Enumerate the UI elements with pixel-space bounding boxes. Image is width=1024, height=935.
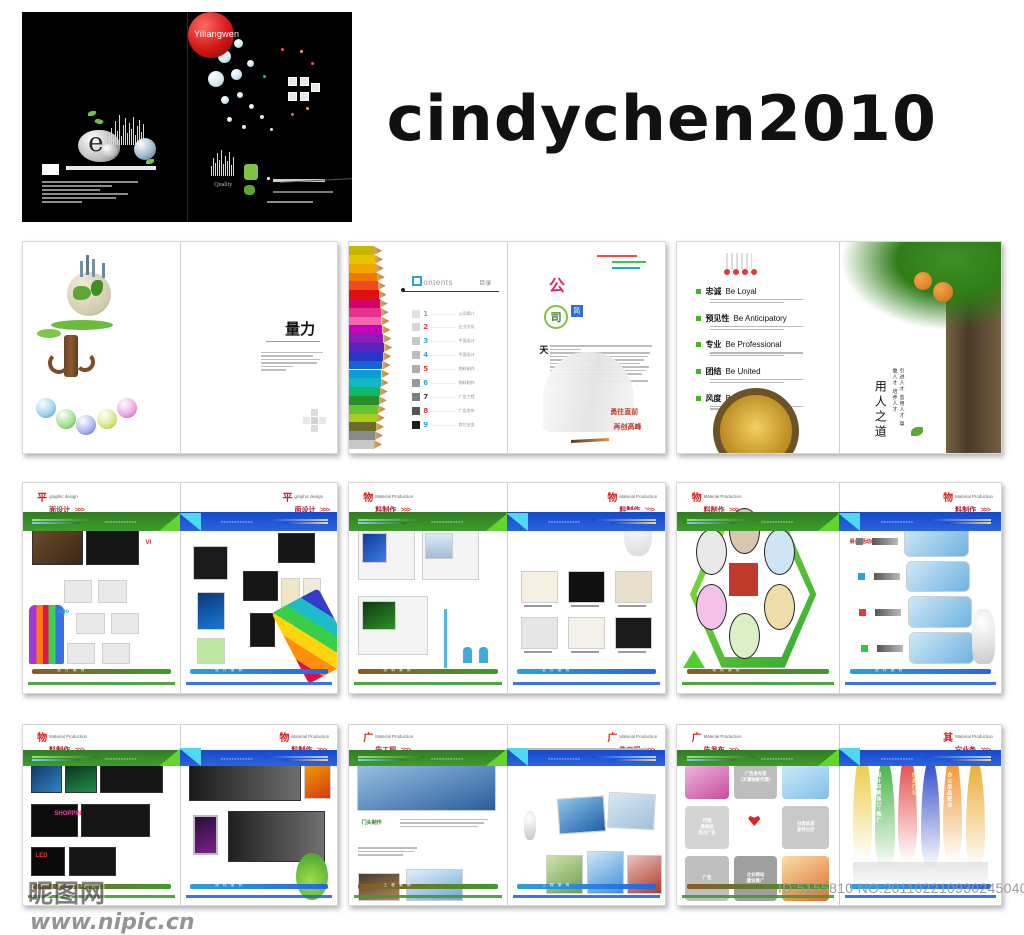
badge-2 bbox=[56, 409, 76, 429]
contents-c-mark bbox=[412, 276, 422, 286]
section-header-cn: 平 bbox=[282, 494, 292, 503]
section-banner: >>>>>>>>>>>> <<<<<<<<<<<< bbox=[349, 512, 665, 531]
design-thumb[interactable] bbox=[102, 643, 130, 664]
contents-item-chip bbox=[412, 310, 420, 318]
contents-item[interactable]: 7.............广告工程 bbox=[412, 393, 474, 401]
pencil bbox=[349, 440, 374, 449]
pencil bbox=[349, 387, 380, 396]
contents-right-page: 公 司 简介 天 勇往直前 再创高峰 bbox=[507, 242, 665, 453]
vertical-title: 用人之道 bbox=[872, 380, 889, 440]
pencil-tip bbox=[378, 405, 386, 414]
design-thumb[interactable] bbox=[243, 571, 277, 600]
contents-item-chip bbox=[412, 393, 420, 401]
contents-item-number: 6 bbox=[423, 379, 428, 387]
feather-label: 办公用品配送 bbox=[946, 772, 953, 808]
pencil-tip bbox=[382, 361, 390, 370]
banner-half-blue: <<<<<<<<<<<< bbox=[839, 512, 1001, 531]
contents-item-dots: ............. bbox=[431, 311, 456, 317]
section-header-cn: 物 bbox=[279, 734, 289, 743]
banner-ticks-right: <<<<<<<<<<<< bbox=[221, 757, 253, 761]
image-tile[interactable] bbox=[425, 533, 453, 558]
contents-item-chip bbox=[412, 379, 420, 387]
section-header-en: Material Production bbox=[619, 494, 657, 499]
cover-back-page bbox=[22, 12, 187, 222]
business-card-thumb[interactable] bbox=[568, 571, 606, 603]
banner-ticks: >>>>>>>>>>>> bbox=[761, 520, 793, 524]
section-baseline bbox=[513, 682, 661, 685]
section-header-en: Material Production bbox=[49, 734, 87, 739]
pencil bbox=[349, 431, 375, 440]
pencil-tip bbox=[374, 246, 382, 255]
contents-item-number: 2 bbox=[423, 323, 428, 331]
banner-triangle-green bbox=[486, 513, 508, 531]
led-thumb[interactable] bbox=[31, 847, 66, 876]
value-bullet-icon bbox=[696, 289, 701, 294]
spec-panel[interactable] bbox=[81, 804, 150, 836]
contents-item[interactable]: 2.............企业文化 bbox=[412, 323, 474, 331]
design-thumb[interactable] bbox=[64, 580, 92, 603]
section-baseline bbox=[354, 895, 503, 898]
contents-item[interactable]: 9.............其它业务 bbox=[412, 421, 474, 429]
pencil-tip bbox=[376, 264, 384, 273]
value-label-cn: 忠诚 bbox=[705, 286, 721, 297]
pencil bbox=[349, 334, 383, 343]
section-footbar-label: 物 料 案 例 bbox=[57, 883, 86, 888]
row-marker bbox=[861, 645, 868, 652]
spread-ad-release-other[interactable]: 广 Material Production 告发布 >>> 广告发布室 （天津独… bbox=[676, 724, 1002, 906]
banner-half-blue: <<<<<<<<<<<< bbox=[180, 512, 337, 531]
business-card-thumb[interactable] bbox=[615, 617, 653, 649]
contents-item-dots: ............. bbox=[431, 380, 456, 386]
service-tile[interactable] bbox=[734, 806, 778, 849]
contents-item-chip bbox=[412, 365, 420, 373]
section-baseline bbox=[513, 895, 661, 898]
sprout-mascot-icon bbox=[296, 853, 327, 900]
pencil bbox=[349, 378, 381, 387]
design-thumb[interactable] bbox=[98, 580, 126, 603]
section-baseline bbox=[28, 682, 176, 685]
banner-half-green: >>>>>>>>>>>> bbox=[677, 750, 839, 766]
section-footbar-label: 工 程 案 例 bbox=[384, 883, 413, 888]
spread-material-production-3[interactable]: 物 Material Production 料制作 >>> SHOPPINGLE… bbox=[22, 724, 338, 906]
row-marker bbox=[858, 573, 865, 580]
section-footbar-label: 名 片 案 例 bbox=[542, 668, 571, 673]
value-bullet-icon bbox=[696, 342, 701, 347]
pencil-tip bbox=[377, 273, 385, 282]
card-caption bbox=[524, 651, 552, 653]
row-label-plate bbox=[874, 573, 900, 580]
feather-graphic bbox=[853, 750, 872, 862]
quality-equalizer bbox=[211, 150, 234, 176]
section-header-cn: 广 bbox=[363, 734, 373, 743]
pencil-tip bbox=[377, 414, 385, 423]
value-label-cn: 专业 bbox=[705, 339, 721, 350]
business-card-thumb[interactable] bbox=[521, 571, 559, 603]
contents-item-label: 物料制作 bbox=[459, 366, 475, 372]
vertical-lines: 引进人才 善用人才 尊重人才 培养人才 bbox=[892, 368, 906, 428]
pencil bbox=[349, 352, 383, 361]
contents-item-number: 9 bbox=[423, 421, 428, 429]
badge-1 bbox=[36, 398, 56, 418]
pencil bbox=[349, 255, 375, 264]
section-header-en: Material Production bbox=[704, 734, 742, 739]
service-tile[interactable]: 代理 各报纸 电台广告 bbox=[685, 806, 729, 849]
banner-ticks-right: <<<<<<<<<<<< bbox=[881, 520, 913, 524]
pencil-tip bbox=[375, 431, 383, 440]
value-bullet-icon bbox=[696, 396, 701, 401]
service-tile[interactable]: 分类信息 宣传台历 bbox=[782, 806, 829, 849]
section-banner: >>>>>>>>>>>> <<<<<<<<<<<< bbox=[23, 750, 337, 766]
section-baseline bbox=[28, 895, 176, 898]
outdoor-photo[interactable] bbox=[608, 792, 657, 830]
preview-canvas: Yiliangwen bbox=[0, 0, 1024, 910]
contents-item-label: 广告工程 bbox=[459, 394, 475, 400]
pencil-tip bbox=[380, 299, 388, 308]
brand-body-lines bbox=[261, 352, 323, 373]
storefront-caption: 门头制作 bbox=[362, 819, 382, 826]
intro-seal-char: 司 bbox=[544, 305, 568, 329]
center-emblem bbox=[729, 563, 758, 597]
design-thumb[interactable] bbox=[32, 529, 82, 565]
pencil bbox=[349, 317, 381, 326]
persimmon-1 bbox=[914, 272, 932, 290]
quality-label: Quality bbox=[214, 182, 232, 188]
banner-ticks-right: <<<<<<<<<<<< bbox=[221, 520, 253, 524]
banner-half-green: >>>>>>>>>>>> bbox=[349, 512, 507, 531]
section-header-en: graphic design bbox=[294, 494, 329, 499]
design-thumb[interactable] bbox=[111, 613, 139, 634]
ornament-pattern bbox=[726, 253, 752, 269]
feather-graphic bbox=[966, 757, 985, 869]
value-description bbox=[710, 299, 829, 303]
contents-item-number: 1 bbox=[423, 310, 428, 318]
design-thumb[interactable] bbox=[250, 613, 275, 647]
pencil bbox=[349, 405, 378, 414]
banner-triangle-blue bbox=[179, 748, 201, 766]
contents-item-chip bbox=[412, 323, 420, 331]
banner-triangle-green bbox=[486, 748, 508, 766]
contents-item-chip bbox=[412, 421, 420, 429]
banner-half-green: >>>>>>>>>>>> bbox=[349, 750, 507, 766]
spread-graphic-design-1[interactable]: 平 graphic design 面设计 >>> VILogo 设 计 案 例 bbox=[22, 482, 338, 694]
contents-item[interactable]: 3.............平面设计 bbox=[412, 337, 474, 345]
intro-small-char: 简介 bbox=[571, 305, 583, 317]
section-banner: >>>>>>>>>>>> <<<<<<<<<<<< bbox=[349, 750, 665, 766]
contents-item-dots: ............. bbox=[431, 352, 456, 358]
value-label-cn: 风度 bbox=[705, 393, 721, 404]
section-banner: >>>>>>>>>>>> <<<<<<<<<<<< bbox=[23, 512, 337, 531]
row-label-plate bbox=[875, 609, 901, 616]
brand-left-page bbox=[23, 242, 180, 453]
core-value-item: 忠诚Be Loyal bbox=[696, 286, 829, 305]
pencil bbox=[349, 264, 376, 273]
spread-material-production-1[interactable]: 物 Material Production 料制作 >>> 物 料 案 例 bbox=[348, 482, 666, 694]
contents-item[interactable]: 4.............平面设计 bbox=[412, 351, 474, 359]
red-dots bbox=[724, 269, 757, 275]
contents-item-chip bbox=[412, 407, 420, 415]
contents-item-number: 3 bbox=[423, 337, 428, 345]
pencil-tip bbox=[379, 290, 387, 299]
image-tile[interactable] bbox=[362, 601, 397, 630]
banner-triangle-blue bbox=[506, 513, 528, 531]
section-header-en: Material Production bbox=[375, 734, 413, 739]
display-thumb[interactable] bbox=[906, 561, 970, 593]
company-logo-mark bbox=[42, 164, 59, 175]
contents-item[interactable]: 1.............公司简介 bbox=[412, 310, 474, 318]
banner-ticks: >>>>>>>>>>>> bbox=[431, 757, 463, 761]
banner-half-green: >>>>>>>>>>>> bbox=[23, 512, 180, 531]
banner-half-blue: <<<<<<<<<<<< bbox=[507, 750, 665, 766]
design-thumb[interactable] bbox=[197, 592, 225, 630]
slogan-b: 再创高峰 bbox=[613, 422, 641, 432]
card-caption bbox=[524, 605, 552, 607]
pencil-tip bbox=[383, 334, 391, 343]
section-baseline bbox=[186, 895, 333, 898]
section-baseline bbox=[186, 682, 333, 685]
card-caption bbox=[618, 605, 646, 607]
pencil bbox=[349, 370, 381, 379]
brand-heading: 量力 bbox=[285, 318, 315, 339]
intro-big-char: 公 bbox=[549, 272, 565, 296]
value-label-en: Be United bbox=[725, 367, 760, 376]
banner-half-blue: <<<<<<<<<<<< bbox=[839, 750, 1001, 766]
section-header-en: Material Production bbox=[704, 494, 742, 499]
banner-half-blue: <<<<<<<<<<<< bbox=[180, 750, 337, 766]
section-footbar: 设 计 案 例 bbox=[190, 669, 327, 674]
section-footbar: 名 片 案 例 bbox=[517, 669, 655, 674]
section-header-en: Material Production bbox=[955, 734, 993, 739]
pencil-fan-graphic bbox=[349, 246, 406, 449]
banner-ticks: >>>>>>>>>>>> bbox=[105, 757, 137, 761]
badge-5 bbox=[117, 398, 137, 418]
contents-item[interactable]: 6.............物料制作 bbox=[412, 379, 474, 387]
value-label-cn: 团结 bbox=[705, 366, 721, 377]
banner-ticks: >>>>>>>>>>>> bbox=[761, 757, 793, 761]
pencil-tip bbox=[375, 255, 383, 264]
core-value-item: 专业Be Professional bbox=[696, 339, 829, 358]
banner-triangle-green bbox=[818, 513, 840, 531]
card-caption bbox=[571, 651, 599, 653]
pencil bbox=[349, 422, 376, 431]
pencil bbox=[349, 396, 379, 405]
mascot-icon bbox=[972, 609, 995, 664]
pencil-tip bbox=[384, 343, 392, 352]
section-header-en: Material Production bbox=[619, 734, 657, 739]
spread-brand-strength[interactable]: 量力 bbox=[22, 241, 338, 454]
banner-triangle-blue bbox=[838, 748, 860, 766]
value-label-en: Be Loyal bbox=[725, 287, 756, 296]
section-footbar: 设 计 案 例 bbox=[32, 669, 170, 674]
person-icon bbox=[463, 647, 472, 663]
design-thumb[interactable] bbox=[86, 529, 139, 565]
design-thumb[interactable] bbox=[197, 638, 225, 663]
contents-item-dots: ............. bbox=[431, 422, 456, 428]
red-orb-logo: Yiliangwen bbox=[188, 12, 234, 58]
pencil-tip bbox=[380, 387, 388, 396]
core-value-item: 团结Be United bbox=[696, 366, 829, 385]
led-thumb[interactable] bbox=[31, 804, 78, 836]
watermark-id: ID:5155810 NO:20110221093024504000 bbox=[778, 880, 1024, 896]
spread-cover[interactable]: Yiliangwen bbox=[22, 12, 352, 222]
spread-ad-engineering[interactable]: 广 Material Production 告工程 >>> 门头制作 bbox=[348, 724, 666, 906]
banner-ticks: >>>>>>>>>>>> bbox=[105, 520, 137, 524]
pencil-tip bbox=[381, 317, 389, 326]
spec-panel[interactable] bbox=[69, 847, 116, 876]
business-card-thumb[interactable] bbox=[615, 571, 653, 603]
signpost-icon bbox=[444, 609, 447, 668]
card-caption bbox=[571, 605, 599, 607]
section-footbar-label: 设 计 案 例 bbox=[215, 668, 244, 673]
feather-graphic bbox=[921, 757, 940, 869]
contents-label-cn: 目录 bbox=[479, 278, 491, 287]
section-header-cn: 广 bbox=[692, 734, 702, 743]
section-footbar-label: 工 程 案 例 bbox=[542, 883, 571, 888]
banner-ticks: >>>>>>>>>>>> bbox=[431, 520, 463, 524]
section-footbar: 物 料 案 例 bbox=[32, 884, 170, 889]
section-header-cn: 物 bbox=[37, 734, 47, 743]
e-ball-icon bbox=[134, 138, 156, 160]
pencil bbox=[349, 246, 374, 255]
design-thumb[interactable] bbox=[67, 643, 95, 664]
banner-half-blue: <<<<<<<<<<<< bbox=[507, 512, 665, 531]
pencil-tip bbox=[378, 281, 386, 290]
feather-label: 设计印刷装订·推广 bbox=[875, 772, 882, 823]
design-thumb[interactable] bbox=[76, 613, 104, 634]
banner-half-green: >>>>>>>>>>>> bbox=[23, 750, 180, 766]
watermark-site-url: www.nipic.cn bbox=[30, 910, 195, 935]
slogan-a: 勇往直前 bbox=[610, 407, 638, 417]
contents-left-page: ontents 目录 1.............公司简介2..........… bbox=[349, 242, 507, 453]
badge-3 bbox=[76, 415, 96, 435]
logo-label: Logo bbox=[54, 609, 69, 615]
section-header-en: Material Production bbox=[375, 494, 413, 499]
cover-front-page: Yiliangwen bbox=[187, 12, 352, 222]
design-thumb[interactable] bbox=[278, 533, 315, 562]
core-value-item: 预见性Be Anticipatory bbox=[696, 313, 829, 332]
contents-item[interactable]: 8.............广告发布 bbox=[412, 407, 474, 415]
contents-item-dots: ............. bbox=[431, 338, 456, 344]
section-footbar: 物 料 案 例 bbox=[190, 884, 327, 889]
pencil bbox=[349, 290, 379, 299]
pencil bbox=[349, 308, 381, 317]
section-footbar: 物 料 案 例 bbox=[687, 669, 830, 674]
outdoor-photo[interactable] bbox=[557, 795, 606, 834]
section-header-cn: 物 bbox=[692, 494, 702, 503]
contents-item-label: 其它业务 bbox=[459, 422, 475, 428]
contents-item-number: 8 bbox=[423, 407, 428, 415]
section-footbar-label: 设 计 案 例 bbox=[57, 668, 86, 673]
value-label-en: Be Professional bbox=[725, 340, 781, 349]
section-baseline bbox=[354, 682, 503, 685]
tagline-en bbox=[273, 191, 333, 193]
contents-item-number: 4 bbox=[423, 351, 428, 359]
banner-triangle-green bbox=[818, 748, 840, 766]
storefront-text bbox=[400, 819, 492, 830]
display-thumb[interactable] bbox=[909, 632, 973, 664]
product-circle[interactable] bbox=[696, 584, 727, 630]
easel-board bbox=[193, 815, 218, 855]
value-description bbox=[710, 379, 829, 383]
product-circle[interactable] bbox=[729, 613, 760, 659]
section-banner: >>>>>>>>>>>> <<<<<<<<<<<< bbox=[677, 750, 1001, 766]
person-icon-2 bbox=[479, 647, 488, 663]
business-card-thumb[interactable] bbox=[521, 617, 559, 649]
values-left-page: 忠诚Be Loyal预见性Be Anticipatory专业Be Profess… bbox=[677, 242, 839, 453]
contents-item[interactable]: 5.............物料制作 bbox=[412, 365, 474, 373]
banner-triangle-green bbox=[159, 513, 181, 531]
contents-item-chip bbox=[412, 351, 420, 359]
section-header-cn: 物 bbox=[363, 494, 373, 503]
section-footbar-label: 物 料 案 例 bbox=[875, 668, 904, 673]
leaf-accent-icon bbox=[911, 427, 923, 436]
section-footbar: 物 料 案 例 bbox=[358, 669, 497, 674]
grass-platform bbox=[51, 320, 113, 330]
spread-contents[interactable]: ontents 目录 1.............公司简介2..........… bbox=[348, 241, 666, 454]
wall-text bbox=[358, 847, 421, 858]
display-thumb[interactable] bbox=[908, 596, 972, 628]
banner-triangle-blue bbox=[838, 513, 860, 531]
sprout-icon-2 bbox=[94, 118, 103, 126]
pencil-tip bbox=[381, 370, 389, 379]
pencil-tip bbox=[376, 422, 384, 431]
section-footbar: 工 程 案 例 bbox=[358, 884, 497, 889]
design-thumb[interactable] bbox=[193, 546, 227, 580]
led-label: LED bbox=[36, 853, 48, 859]
contents-item-dots: ............. bbox=[431, 394, 456, 400]
section-footbar-label: 物 料 案 例 bbox=[712, 668, 741, 673]
spread-material-production-2[interactable]: 物 Material Production 料制作 >>> 物 料 案 例 bbox=[676, 482, 1002, 694]
card-caption bbox=[618, 651, 646, 653]
value-description bbox=[710, 326, 829, 330]
back-cover-company-block bbox=[42, 161, 156, 203]
contents-item-label: 公司简介 bbox=[459, 311, 475, 317]
badge-4 bbox=[97, 409, 117, 429]
contents-item-dots: ............. bbox=[431, 324, 456, 330]
row-label-plate bbox=[872, 538, 898, 545]
business-card-thumb[interactable] bbox=[568, 617, 606, 649]
globe-icon bbox=[67, 272, 111, 316]
pencil-tip bbox=[381, 378, 389, 387]
section-footbar: 物 料 案 例 bbox=[850, 669, 992, 674]
section-baseline bbox=[845, 682, 996, 685]
value-bullet-icon bbox=[696, 369, 701, 374]
banner-triangle-green bbox=[159, 748, 181, 766]
section-header-en: Material Production bbox=[955, 494, 993, 499]
arrow-up-icon bbox=[683, 650, 705, 668]
recycle-icon bbox=[244, 164, 258, 180]
row-marker bbox=[856, 538, 863, 545]
row-marker bbox=[859, 609, 866, 616]
section-header-cn: 广 bbox=[607, 734, 617, 743]
spread-core-values[interactable]: 忠诚Be Loyal预见性Be Anticipatory专业Be Profess… bbox=[676, 241, 1002, 454]
section-baseline bbox=[682, 682, 834, 685]
pencil bbox=[349, 273, 377, 282]
section-footbar-label: 物 料 案 例 bbox=[215, 883, 244, 888]
section-footbar-label: 物 料 案 例 bbox=[384, 668, 413, 673]
pencil-tip bbox=[374, 440, 382, 449]
brand-right-page: 量力 bbox=[180, 242, 337, 453]
pencil bbox=[349, 281, 378, 290]
contents-item-label: 物料制作 bbox=[459, 380, 475, 386]
leaf-icon bbox=[244, 185, 255, 195]
banner-half-green: >>>>>>>>>>>> bbox=[677, 512, 839, 531]
product-circle[interactable] bbox=[764, 584, 795, 630]
contents-item-number: 7 bbox=[423, 393, 428, 401]
image-tile[interactable] bbox=[362, 533, 387, 562]
banner-ticks-right: <<<<<<<<<<<< bbox=[881, 757, 913, 761]
contents-item-label: 广告发布 bbox=[459, 408, 475, 414]
vi-label: VI bbox=[145, 540, 151, 546]
